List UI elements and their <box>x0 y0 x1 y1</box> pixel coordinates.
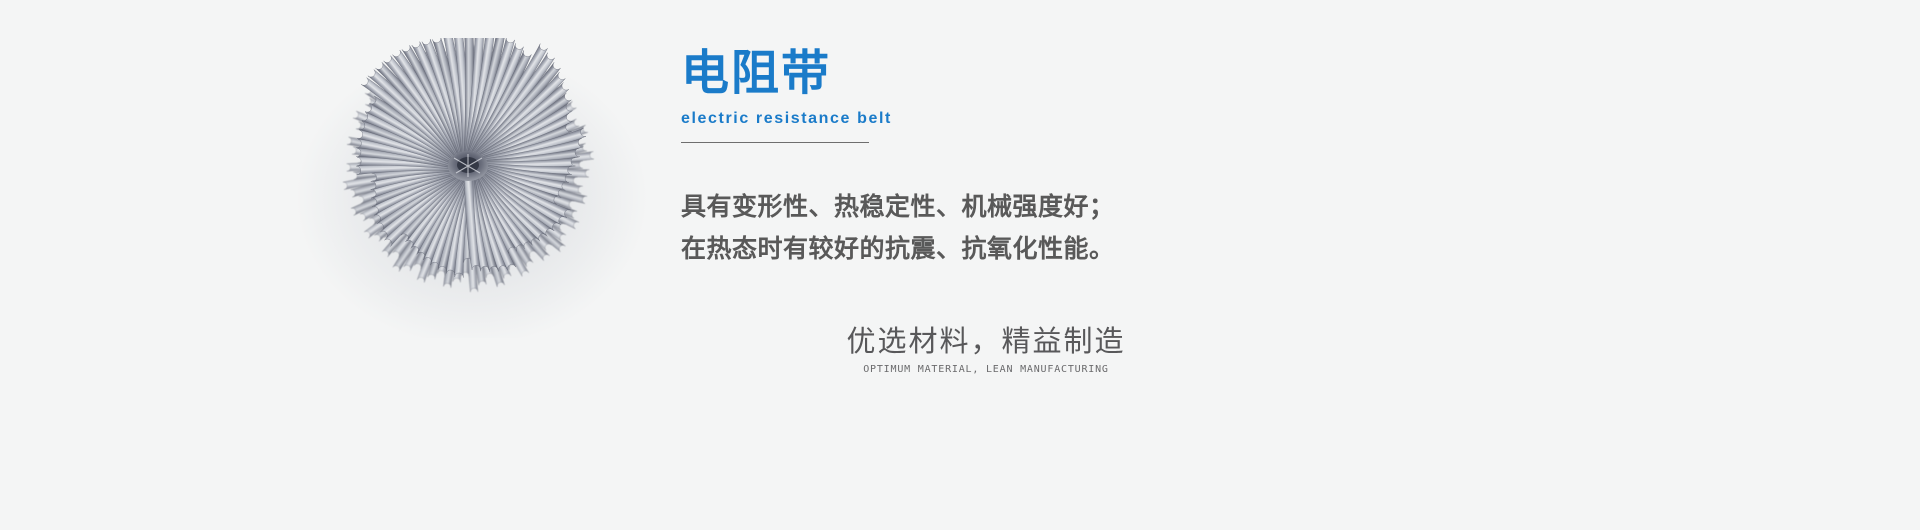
resistance-belt-coil-illustration <box>290 38 670 338</box>
description-line-2: 在热态时有较好的抗震、抗氧化性能。 <box>681 228 1281 270</box>
description-line-1: 具有变形性、热稳定性、机械强度好； <box>681 186 1281 228</box>
title-divider <box>681 142 869 143</box>
banner-text-column: 电阻带 electric resistance belt 具有变形性、热稳定性、… <box>681 0 1381 530</box>
title-block: 电阻带 electric resistance belt <box>681 46 1201 143</box>
description-block: 具有变形性、热稳定性、机械强度好； 在热态时有较好的抗震、抗氧化性能。 <box>681 186 1281 270</box>
page-subtitle: electric resistance belt <box>681 110 1201 128</box>
tagline-chinese: 优选材料，精益制造 <box>776 322 1196 360</box>
tagline-english: OPTIMUM MATERIAL, LEAN MANUFACTURING <box>776 363 1196 377</box>
product-banner: 电阻带 electric resistance belt 具有变形性、热稳定性、… <box>0 0 1920 530</box>
tagline-block: 优选材料，精益制造 OPTIMUM MATERIAL, LEAN MANUFAC… <box>776 322 1196 377</box>
page-title: 电阻带 <box>681 46 1201 100</box>
product-image <box>290 38 670 338</box>
